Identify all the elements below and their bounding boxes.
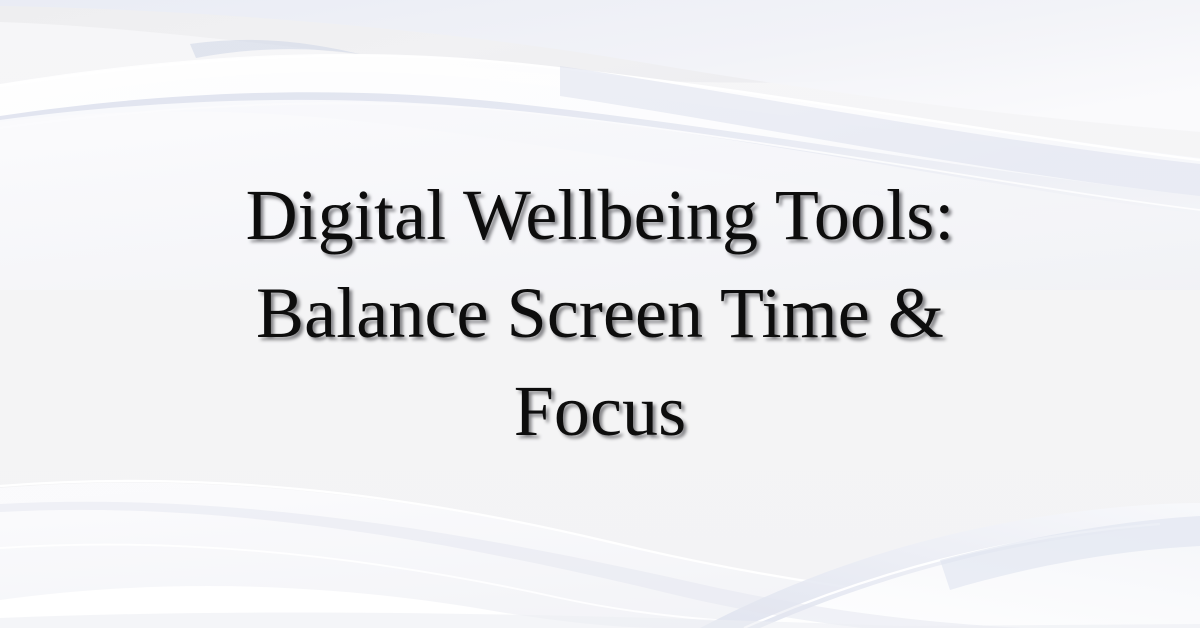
page-title: Digital Wellbeing Tools: Balance Screen … (200, 167, 1000, 461)
og-banner-card: Digital Wellbeing Tools: Balance Screen … (0, 0, 1200, 628)
title-block: Digital Wellbeing Tools: Balance Screen … (0, 0, 1200, 628)
